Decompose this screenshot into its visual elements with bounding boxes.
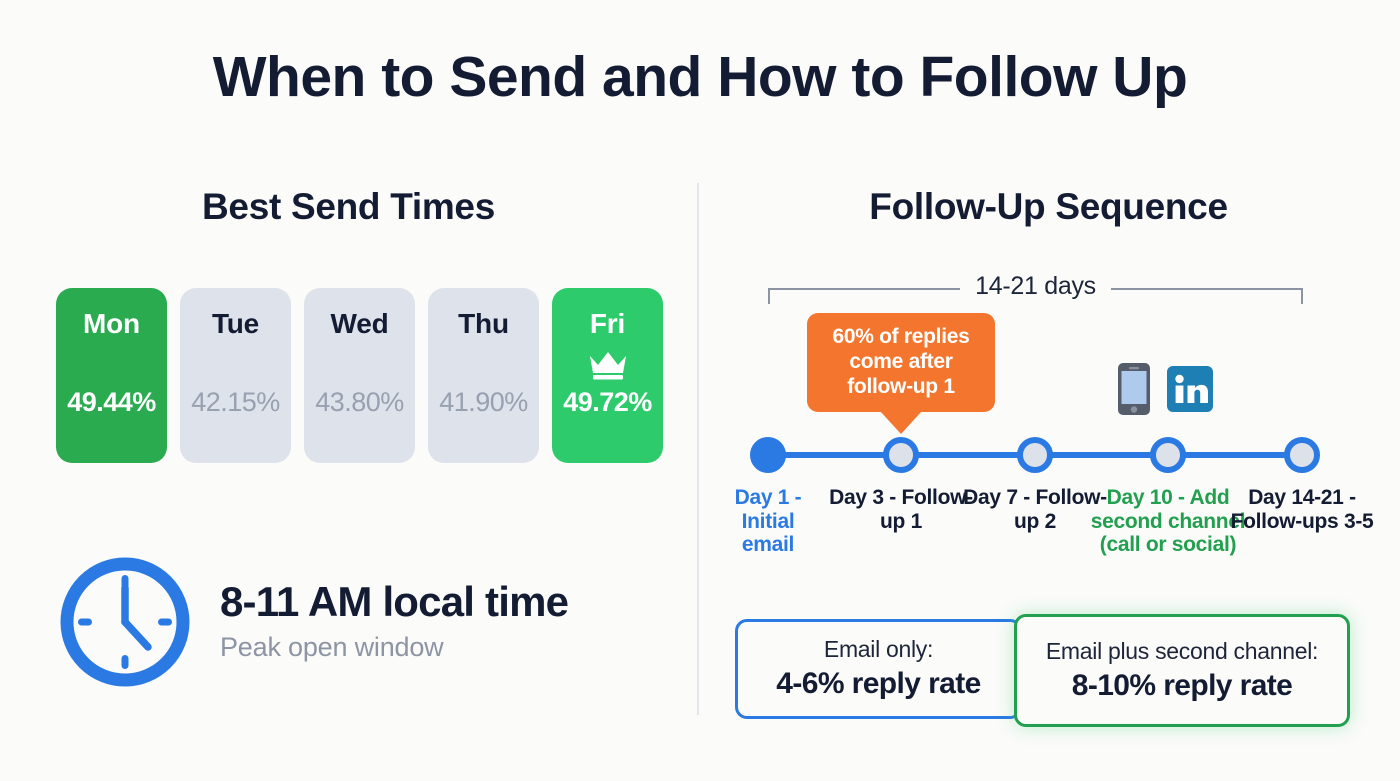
duration-bracket: 14-21 days (768, 272, 1303, 304)
timeline-node-day3[interactable] (883, 437, 919, 473)
channel-icons-group (1117, 362, 1213, 421)
day-card-label: Tue (212, 308, 259, 340)
peak-time-headline: 8-11 AM local time (220, 580, 568, 624)
peak-open-window-text: 8-11 AM local time Peak open window (220, 580, 568, 668)
follow-up-sequence-heading: Follow-Up Sequence (697, 186, 1400, 228)
day-card-percent: 49.44% (56, 387, 167, 418)
timeline-node-day10[interactable] (1150, 437, 1186, 473)
day-card-percent: 41.90% (428, 387, 539, 418)
callout-line-2: come after (817, 350, 985, 375)
linkedin-icon[interactable] (1167, 366, 1213, 417)
day-card-percent: 42.15% (180, 387, 291, 418)
day-card-wed[interactable]: Wed 43.80% (304, 288, 415, 463)
outcome-caption: Email plus second channel: (1046, 638, 1318, 666)
outcome-box-multichannel: Email plus second channel: 8-10% reply r… (1014, 614, 1350, 727)
outcome-caption: Email only: (824, 636, 933, 664)
bracket-line-right (1111, 288, 1303, 290)
timeline-node-day7[interactable] (1017, 437, 1053, 473)
timeline-node-day14-21[interactable] (1284, 437, 1320, 473)
day-card-mon[interactable]: Mon 49.44% (56, 288, 167, 463)
day-card-tue[interactable]: Tue 42.15% (180, 288, 291, 463)
outcome-box-email-only: Email only: 4-6% reply rate (735, 619, 1022, 719)
timeline-label-day14-21: Day 14-21 - Follow-ups 3-5 (1227, 486, 1377, 533)
day-card-percent: 43.80% (304, 387, 415, 418)
day-card-thu[interactable]: Thu 41.90% (428, 288, 539, 463)
peak-time-subtext: Peak open window (220, 632, 568, 663)
day-cards-row: Mon 49.44% Tue 42.15% Wed 43.80% Thu 41.… (56, 288, 666, 463)
day-card-percent: 49.72% (552, 387, 663, 418)
callout-line-3: follow-up 1 (817, 375, 985, 400)
bracket-line-left (768, 288, 960, 290)
best-send-times-panel: Best Send Times Mon 49.44% Tue 42.15% We… (0, 0, 697, 781)
bracket-tick-left (768, 288, 770, 304)
clock-icon (58, 555, 192, 694)
duration-label: 14-21 days (965, 272, 1106, 301)
bracket-tick-right (1301, 288, 1303, 304)
callout-tail (880, 411, 922, 434)
day-card-fri[interactable]: Fri 49.72% (552, 288, 663, 463)
day-card-label: Thu (458, 308, 509, 340)
replies-callout: 60% of replies come after follow-up 1 (807, 313, 995, 412)
timeline-label-day1: Day 1 - Initial email (722, 486, 814, 557)
day-card-label: Fri (590, 308, 625, 340)
peak-open-window-block: 8-11 AM local time Peak open window (58, 555, 568, 694)
crown-icon (587, 350, 629, 385)
timeline-node-day1[interactable] (750, 437, 786, 473)
outcome-value: 4-6% reply rate (776, 667, 980, 702)
mobile-phone-icon (1117, 362, 1151, 421)
best-send-times-heading: Best Send Times (0, 186, 697, 228)
day-card-label: Wed (331, 308, 389, 340)
day-card-label: Mon (83, 308, 140, 340)
timeline-label-day3: Day 3 - Follow-up 1 (826, 486, 976, 533)
outcome-value: 8-10% reply rate (1072, 669, 1293, 704)
callout-line-1: 60% of replies (817, 325, 985, 350)
